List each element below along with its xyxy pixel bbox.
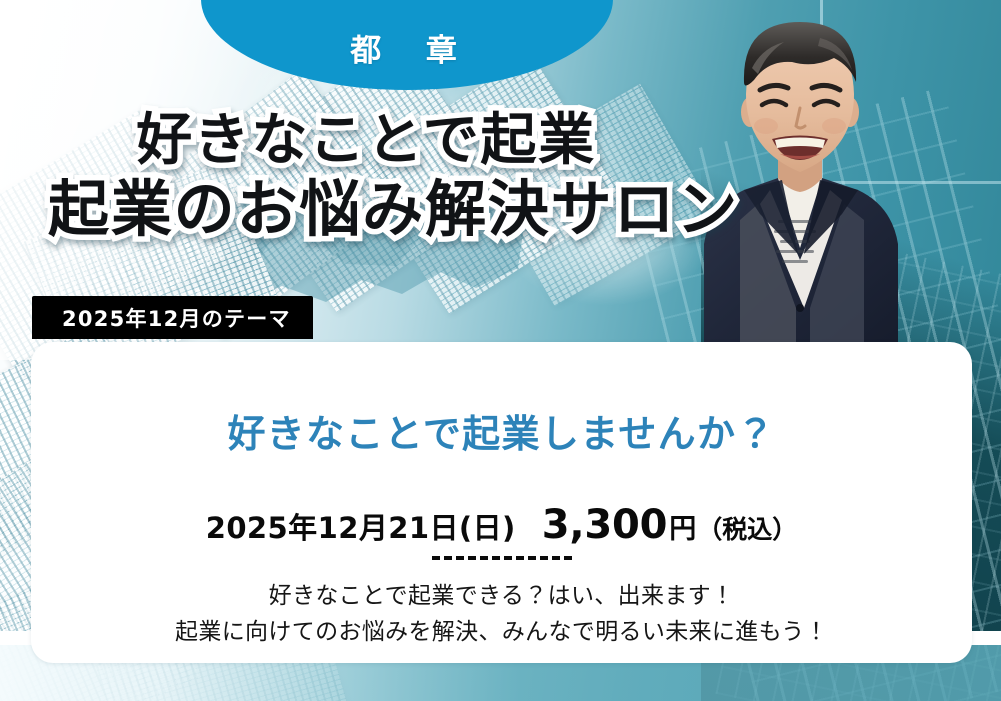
card-heading: 好きなことで起業しませんか？ (31, 403, 972, 458)
poster-root: 都 章 好きなことで起業 起業のお悩み解決サロン 2025年12月のテーマ 好き… (0, 0, 1001, 701)
theme-ribbon-label: 2025年12月のテーマ (62, 303, 291, 333)
event-date: 2025年12月21日(日) (206, 505, 516, 547)
card-meta-row: 2025年12月21日(日) 3,300 円 （税込） (31, 502, 972, 548)
poster-title: 好きなことで起業 起業のお悩み解決サロン (44, 112, 704, 241)
top-badge-label: 都 章 (350, 25, 463, 70)
event-price-amount: 3,300 (542, 502, 668, 548)
event-price-currency: 円 (669, 507, 696, 546)
poster-title-line-2: 起業のお悩み解決サロン (48, 179, 704, 241)
card-description: 好きなことで起業できる？はい、出来ます！ 起業に向けてのお悩みを解決、みんなで明… (31, 578, 972, 651)
dashed-divider (432, 556, 572, 560)
card-description-line-1: 好きなことで起業できる？はい、出来ます！ (31, 578, 972, 614)
event-price-tax-note: （税込） (697, 510, 797, 546)
card-description-line-2: 起業に向けてのお悩みを解決、みんなで明るい未来に進もう！ (31, 614, 972, 650)
info-card: 好きなことで起業しませんか？ 2025年12月21日(日) 3,300 円 （税… (31, 342, 972, 663)
poster-title-line-1: 好きなことで起業 (136, 112, 704, 169)
theme-ribbon: 2025年12月のテーマ (32, 296, 313, 339)
